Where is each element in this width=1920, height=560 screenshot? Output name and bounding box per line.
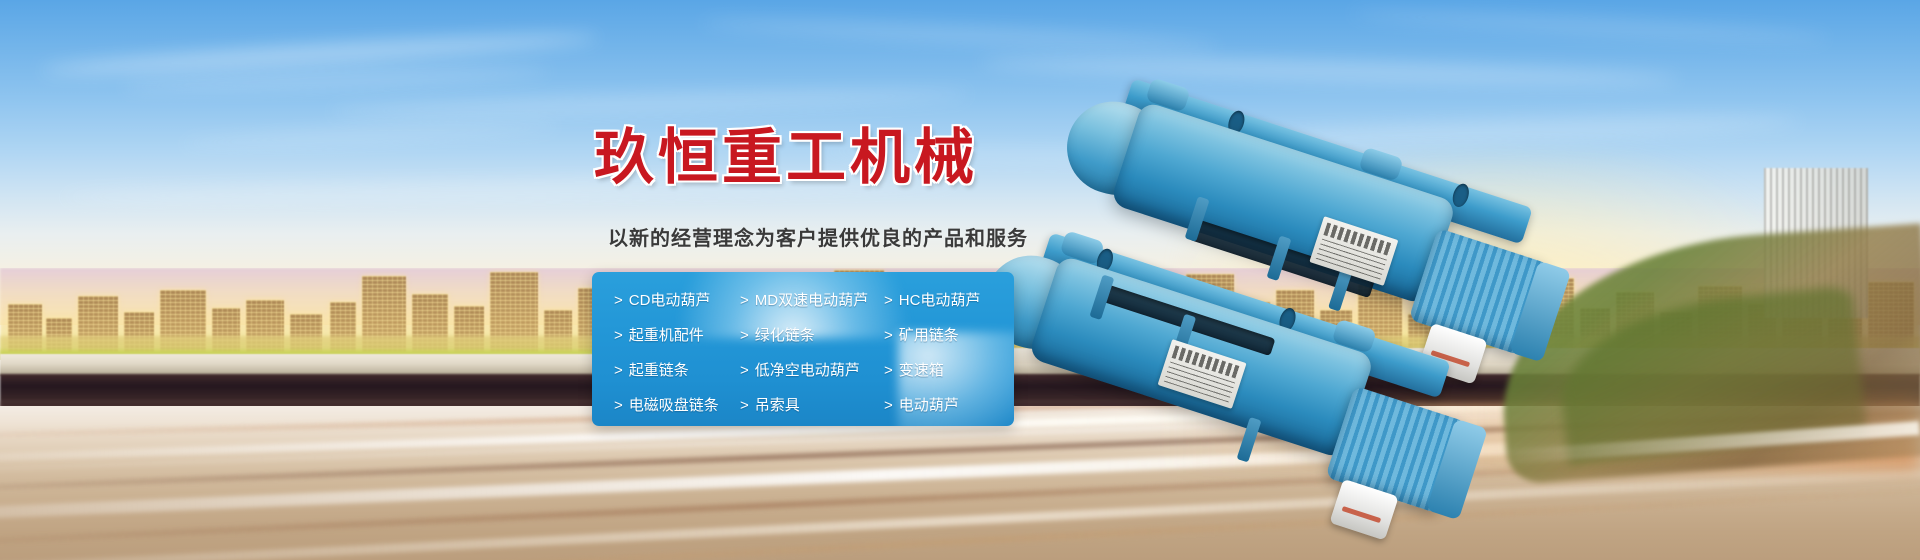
hoist-lift-hole [1450,182,1472,209]
product-link-label: 变速箱 [899,362,944,379]
company-title: 玖恒重工机械 [594,128,978,188]
chevron-right-icon: > [884,397,893,414]
product-link-md-dual-speed-hoist[interactable]: >MD双速电动葫芦 [740,283,868,318]
electric-hoist-group [1040,60,1920,480]
product-link-label: 矿用链条 [899,327,959,344]
chevron-right-icon: > [614,362,623,379]
company-slogan: 以新的经营理念为客户提供优良的产品和服务 [608,222,1028,251]
chevron-right-icon: > [884,327,893,344]
chevron-right-icon: > [884,362,893,379]
product-link-label: CD电动葫芦 [629,292,711,309]
product-links-row: >电磁吸盘链条 >吊索具 >电动葫芦 [592,388,1014,423]
chevron-right-icon: > [614,292,623,309]
chevron-right-icon: > [740,397,749,414]
product-links-row: >起重机配件 >绿化链条 >矿用链条 [592,318,1014,353]
product-link-label: 电磁吸盘链条 [629,397,719,414]
product-link-slings[interactable]: >吊索具 [740,388,800,423]
product-links-grid: >CD电动葫芦 >MD双速电动葫芦 >HC电动葫芦 >起重机配件 >绿化链条 >… [592,272,1014,426]
cloud-wisp [120,66,550,93]
cloud-wisp [180,121,560,150]
hero-banner: 玖恒重工机械 以新的经营理念为客户提供优良的产品和服务 >CD电动葫芦 >MD双… [0,0,1920,560]
chevron-right-icon: > [740,327,749,344]
product-link-label: 绿化链条 [755,327,815,344]
product-links-row: >起重链条 >低净空电动葫芦 >变速箱 [592,353,1014,388]
product-link-label: 电动葫芦 [899,397,959,414]
product-link-label: HC电动葫芦 [899,292,981,309]
product-link-greening-chain[interactable]: >绿化链条 [740,318,815,353]
product-link-label: 低净空电动葫芦 [755,362,860,379]
cloud-wisp [330,87,970,119]
product-link-low-headroom-hoist[interactable]: >低净空电动葫芦 [740,353,860,388]
product-links-panel: >CD电动葫芦 >MD双速电动葫芦 >HC电动葫芦 >起重机配件 >绿化链条 >… [592,272,1014,426]
product-link-electric-hoist[interactable]: >电动葫芦 [884,388,959,423]
product-link-label: MD双速电动葫芦 [755,292,868,309]
chevron-right-icon: > [740,362,749,379]
chevron-right-icon: > [740,292,749,309]
product-link-crane-parts[interactable]: >起重机配件 [614,318,704,353]
product-link-label: 起重机配件 [629,327,704,344]
chevron-right-icon: > [884,292,893,309]
product-link-hc-hoist[interactable]: >HC电动葫芦 [884,283,980,318]
product-link-cd-hoist[interactable]: >CD电动葫芦 [614,283,710,318]
product-link-mining-chain[interactable]: >矿用链条 [884,318,959,353]
cloud-wisp [1350,7,1830,44]
product-link-label: 起重链条 [629,362,689,379]
cloud-wisp [700,16,1220,53]
product-links-row: >CD电动葫芦 >MD双速电动葫芦 >HC电动葫芦 [592,283,1014,318]
product-link-gearbox[interactable]: >变速箱 [884,353,944,388]
chevron-right-icon: > [614,397,623,414]
chevron-right-icon: > [614,327,623,344]
product-link-lifting-chain[interactable]: >起重链条 [614,353,689,388]
product-link-magnetic-chuck-chain[interactable]: >电磁吸盘链条 [614,388,719,423]
product-link-label: 吊索具 [755,397,800,414]
